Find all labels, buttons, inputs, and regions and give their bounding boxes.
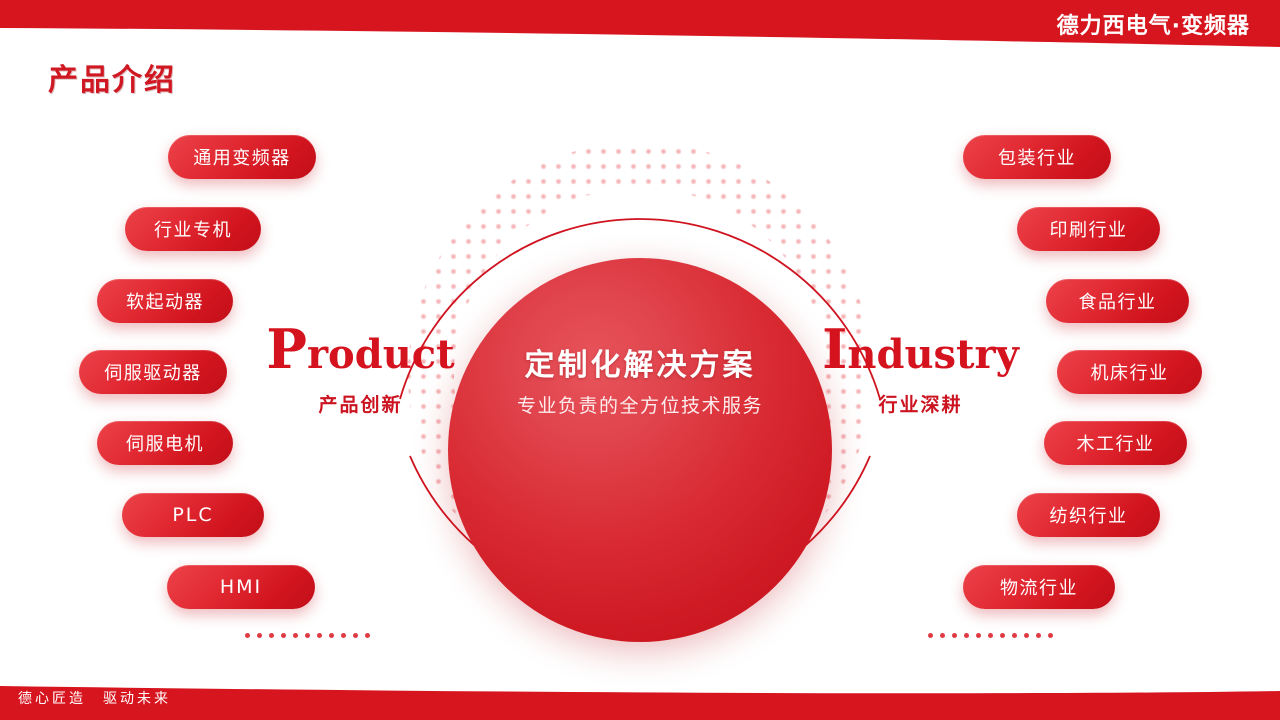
center-hub: 定制化解决方案 专业负责的全方位技术服务 xyxy=(448,258,832,642)
left-section-cn-title: 产品创新 xyxy=(258,390,463,417)
dot xyxy=(1000,633,1005,638)
center-title: 定制化解决方案 xyxy=(448,340,832,384)
dot xyxy=(245,633,250,638)
right-section-en-title: Industry xyxy=(818,322,1023,376)
product-pill-0[interactable]: 通用变频器 xyxy=(168,135,316,179)
left-dots-decoration xyxy=(245,633,370,638)
dot xyxy=(269,633,274,638)
pill-label: 物流行业 xyxy=(1000,574,1078,600)
pill-label: 伺服电机 xyxy=(126,430,204,456)
footer-band xyxy=(0,670,1280,720)
slide-canvas: 德力西电气·变频器 产品介绍 定制化解决方案 专业负责的全 xyxy=(0,0,1280,720)
product-pill-5[interactable]: PLC xyxy=(122,493,264,537)
dot xyxy=(365,633,370,638)
footer-slogan: 德心匠造 驱动未来 xyxy=(18,688,171,708)
industry-pill-2[interactable]: 食品行业 xyxy=(1046,279,1189,323)
dot xyxy=(293,633,298,638)
dot xyxy=(976,633,981,638)
dot xyxy=(317,633,322,638)
right-en-capital: I xyxy=(822,317,847,381)
pill-label: 机床行业 xyxy=(1091,359,1169,385)
pill-label: 通用变频器 xyxy=(193,144,291,170)
center-ball xyxy=(448,258,832,642)
page-title: 产品介绍 xyxy=(48,55,176,99)
dot xyxy=(257,633,262,638)
brand-logo-text: 德力西电气·变频器 xyxy=(1057,8,1250,40)
pill-label: 软起动器 xyxy=(126,288,204,314)
dot xyxy=(341,633,346,638)
left-section-en-title: Product xyxy=(258,322,463,376)
dot xyxy=(940,633,945,638)
dot xyxy=(1036,633,1041,638)
left-en-rest: roduct xyxy=(307,331,455,378)
dot xyxy=(928,633,933,638)
dot xyxy=(988,633,993,638)
pill-label: 食品行业 xyxy=(1079,288,1157,314)
dot xyxy=(353,633,358,638)
center-subtitle: 专业负责的全方位技术服务 xyxy=(448,391,832,418)
dot xyxy=(305,633,310,638)
left-en-capital: P xyxy=(266,317,307,381)
pill-label: 伺服驱动器 xyxy=(104,359,202,385)
pill-label: 纺织行业 xyxy=(1050,502,1128,528)
pill-label: 包装行业 xyxy=(998,144,1076,170)
left-section-heading: Product 产品创新 xyxy=(258,322,463,417)
product-pill-6[interactable]: HMI xyxy=(167,565,315,609)
industry-pill-6[interactable]: 物流行业 xyxy=(963,565,1115,609)
industry-pill-3[interactable]: 机床行业 xyxy=(1057,350,1202,394)
product-pill-3[interactable]: 伺服驱动器 xyxy=(79,350,227,394)
pill-label: 木工行业 xyxy=(1077,430,1155,456)
dot xyxy=(952,633,957,638)
right-section-cn-title: 行业深耕 xyxy=(818,390,1023,417)
dot xyxy=(1012,633,1017,638)
dot xyxy=(329,633,334,638)
product-pill-2[interactable]: 软起动器 xyxy=(97,279,233,323)
industry-pill-0[interactable]: 包装行业 xyxy=(963,135,1111,179)
right-dots-decoration xyxy=(928,633,1053,638)
dot xyxy=(1048,633,1053,638)
pill-label: PLC xyxy=(172,504,213,526)
industry-pill-1[interactable]: 印刷行业 xyxy=(1017,207,1160,251)
dot xyxy=(281,633,286,638)
pill-label: 行业专机 xyxy=(154,216,232,242)
dot xyxy=(964,633,969,638)
product-pill-4[interactable]: 伺服电机 xyxy=(97,421,233,465)
industry-pill-4[interactable]: 木工行业 xyxy=(1044,421,1187,465)
right-en-rest: ndustry xyxy=(847,331,1018,378)
product-pill-1[interactable]: 行业专机 xyxy=(125,207,261,251)
dot xyxy=(1024,633,1029,638)
pill-label: HMI xyxy=(220,576,262,598)
industry-pill-5[interactable]: 纺织行业 xyxy=(1017,493,1160,537)
right-section-heading: Industry 行业深耕 xyxy=(818,322,1023,417)
pill-label: 印刷行业 xyxy=(1050,216,1128,242)
